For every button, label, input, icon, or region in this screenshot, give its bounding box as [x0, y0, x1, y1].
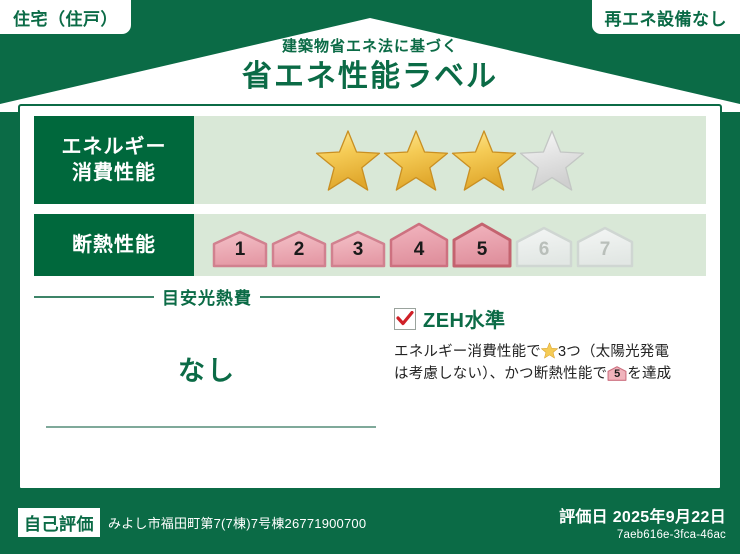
property-address: みよし市福田町第7(7棟)7号棟26771900700 [108, 513, 366, 532]
house-icon-level-7: 7 [576, 226, 634, 268]
energy-cost-value: なし [34, 349, 380, 388]
lower-section: 目安光熱費 なし ZEH水準 エネルギー消費性能で 3つ（太陽光発電 は考慮しな… [34, 282, 706, 458]
house-icon-level-3: 3 [330, 230, 386, 268]
house-icon-inline: 5 [607, 365, 627, 382]
star-icon-filled [315, 129, 381, 192]
evaluation-date: 評価日 2025年9月22日 [559, 503, 726, 527]
label-title: 建築物省エネ法に基づく 省エネ性能ラベル [0, 38, 740, 96]
energy-performance-label-line2: 消費性能 [72, 160, 156, 186]
house-level-number: 4 [389, 239, 449, 261]
house-icon-level-5: 5 [452, 222, 512, 268]
energy-performance-row: エネルギー 消費性能 [34, 116, 706, 204]
zeh-desc-part1: エネルギー消費性能で [394, 344, 541, 360]
house-icon-level-6: 6 [515, 226, 573, 268]
star-icon-empty [519, 129, 585, 192]
energy-performance-label-line1: エネルギー [62, 134, 167, 160]
evaluation-type-badge: 自己評価 [18, 508, 100, 537]
insulation-scale: 1 2 3 [212, 222, 634, 268]
footer-right: 評価日 2025年9月22日 7aeb616e-3fca-46ac [559, 503, 726, 541]
energy-cost-heading: 目安光熱費 [34, 284, 380, 309]
title-main: 省エネ性能ラベル [0, 58, 740, 96]
house-level-number: 6 [515, 239, 573, 261]
badge-building-type: 住宅（住戸） [0, 0, 131, 34]
zeh-checkbox [394, 308, 416, 330]
heading-rule-right [260, 296, 380, 298]
zeh-desc-part3: を達成 [627, 366, 671, 382]
document-id: 7aeb616e-3fca-46ac [559, 529, 726, 541]
title-subtitle: 建築物省エネ法に基づく [0, 38, 740, 56]
energy-cost-bottom-rule [46, 426, 376, 428]
energy-performance-value [194, 116, 706, 204]
star-icon-filled [383, 129, 449, 192]
heading-rule-left [34, 296, 154, 298]
zeh-title: ZEH水準 [423, 304, 506, 333]
zeh-description: エネルギー消費性能で 3つ（太陽光発電 は考慮しない）、かつ断熱性能で 5 を達… [394, 341, 706, 386]
energy-cost-heading-text: 目安光熱費 [162, 284, 252, 309]
zeh-heading: ZEH水準 [394, 304, 706, 333]
energy-cost-panel: 目安光熱費 なし [34, 282, 390, 458]
house-level-number: 3 [330, 239, 386, 261]
label-card: エネルギー 消費性能 [18, 104, 722, 490]
house-icon-level-1: 1 [212, 230, 268, 268]
house-level-number: 7 [576, 239, 634, 261]
insulation-performance-label-text: 断熱性能 [72, 232, 156, 258]
insulation-performance-value: 1 2 3 [194, 214, 706, 276]
badge-renewable-energy: 再エネ設備なし [592, 0, 740, 34]
house-inline-number: 5 [607, 365, 627, 382]
house-icon-level-2: 2 [271, 230, 327, 268]
star-rating [315, 129, 585, 192]
star-icon-inline [541, 342, 558, 359]
star-icon-filled [451, 129, 517, 192]
insulation-performance-row: 断熱性能 1 [34, 214, 706, 276]
zeh-panel: ZEH水準 エネルギー消費性能で 3つ（太陽光発電 は考慮しない）、かつ断熱性能… [390, 282, 706, 458]
check-icon [396, 311, 414, 326]
badge-building-type-label: 住宅（住戸） [13, 5, 118, 30]
insulation-performance-label: 断熱性能 [34, 214, 194, 276]
badge-renewable-energy-label: 再エネ設備なし [605, 5, 728, 30]
footer: 自己評価 みよし市福田町第7(7棟)7号棟26771900700 評価日 202… [0, 490, 740, 554]
house-level-number: 2 [271, 239, 327, 261]
house-level-number: 1 [212, 239, 268, 261]
house-level-number: 5 [452, 239, 512, 261]
footer-left: 自己評価 みよし市福田町第7(7棟)7号棟26771900700 [18, 508, 366, 537]
zeh-desc-star-count: 3つ（太陽光発電 [558, 344, 669, 360]
energy-performance-label: エネルギー 消費性能 [34, 116, 194, 204]
house-icon-level-4: 4 [389, 222, 449, 268]
zeh-desc-part2: は考慮しない）、かつ断熱性能で [394, 366, 607, 382]
